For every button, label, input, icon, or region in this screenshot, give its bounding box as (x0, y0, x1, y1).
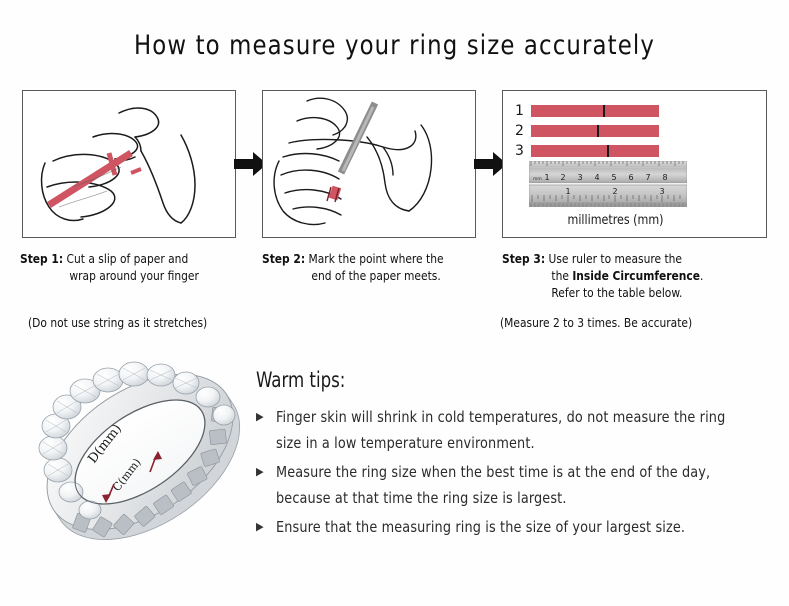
hand-with-paper-strip-illustration (23, 91, 234, 236)
warm-tip-item-1: ▶ Finger skin will shrink in cold temper… (256, 404, 776, 456)
paper-strip-1 (531, 105, 659, 117)
strip-number-2: 2 (515, 123, 531, 139)
paper-strip-row-3: 3 (515, 143, 659, 159)
svg-text:7: 7 (645, 173, 650, 182)
svg-text:6: 6 (628, 173, 633, 182)
warm-tips-list: ▶ Finger skin will shrink in cold temper… (256, 404, 776, 543)
step-1-caption: Step 1: Cut a slip of paper and wrap aro… (20, 250, 258, 284)
step-1-label: Step 1: (20, 251, 63, 266)
svg-text:3: 3 (577, 173, 582, 182)
warm-tips-heading: Warm tips: (256, 368, 345, 392)
paper-strip-row-2: 2 (515, 123, 659, 139)
page-title: How to measure your ring size accurately (24, 30, 766, 61)
step-3-line2-tail: . (700, 268, 703, 283)
svg-text:1: 1 (565, 187, 570, 196)
step-3-line3: Refer to the table below. (502, 284, 763, 301)
step-2-line2: end of the paper meets. (262, 267, 500, 284)
paper-strip-2 (531, 125, 659, 137)
triangle-bullet-icon: ▶ (256, 404, 276, 430)
svg-text:5: 5 (611, 173, 616, 182)
svg-text:8: 8 (662, 173, 667, 182)
svg-text:4: 4 (594, 173, 599, 182)
step-2-caption: Step 2: Mark the point where the end of … (262, 250, 500, 284)
paper-strip-row-1: 1 (515, 103, 659, 119)
step-2-figure-panel (262, 90, 476, 238)
step-1-note: (Do not use string as it stretches) (28, 315, 207, 330)
hand-marking-paper-illustration (263, 91, 474, 236)
step-3-inside-circumference: Inside Circumference (572, 268, 700, 283)
step-1-line2: wrap around your finger (20, 267, 258, 284)
ring-size-guide-page: How to measure your ring size accurately (0, 0, 789, 606)
warm-tip-text-3: Ensure that the measuring ring is the si… (276, 514, 746, 540)
paper-strip-3 (531, 145, 659, 157)
step-3-label: Step 3: (502, 251, 545, 266)
step-1-figure-panel (22, 90, 236, 238)
warm-tip-text-2: Measure the ring size when the best time… (276, 459, 746, 511)
strip-tick-mark-2 (597, 125, 599, 137)
svg-text:2: 2 (560, 173, 565, 182)
diamond-ring-illustration: D(mm) C(mm) (22, 352, 258, 552)
step-3-figure-panel: 1 2 3 (502, 90, 767, 238)
step-2-label: Step 2: (262, 251, 305, 266)
strip-tick-mark-1 (603, 105, 605, 117)
step-3-caption: Step 3: Use ruler to measure the the Ins… (502, 250, 763, 301)
warm-tip-item-3: ▶ Ensure that the measuring ring is the … (256, 514, 776, 540)
triangle-bullet-icon: ▶ (256, 514, 276, 540)
step-3-line2: the Inside Circumference. (502, 267, 763, 284)
warm-tip-text-1: Finger skin will shrink in cold temperat… (276, 404, 746, 456)
svg-text:2: 2 (612, 187, 617, 196)
ruler-graphic: 1 2 3 4 5 6 7 8 mm 1 2 3 (529, 161, 687, 207)
step-3-line2-prefix: the (551, 268, 572, 283)
step-3-line1: Use ruler to measure the (549, 251, 682, 266)
svg-text:3: 3 (659, 187, 664, 196)
triangle-bullet-icon: ▶ (256, 459, 276, 485)
ruler-unit-caption: millimetres (mm) (568, 213, 664, 228)
svg-text:mm: mm (533, 177, 542, 182)
strip-number-1: 1 (515, 103, 531, 119)
strip-tick-mark-3 (607, 145, 609, 157)
strip-number-3: 3 (515, 143, 531, 159)
step-2-line1: Mark the point where the (309, 251, 444, 266)
svg-text:1: 1 (544, 173, 549, 182)
step-1-line1: Cut a slip of paper and (67, 251, 189, 266)
warm-tip-item-2: ▶ Measure the ring size when the best ti… (256, 459, 776, 511)
step-3-note: (Measure 2 to 3 times. Be accurate) (500, 315, 692, 330)
